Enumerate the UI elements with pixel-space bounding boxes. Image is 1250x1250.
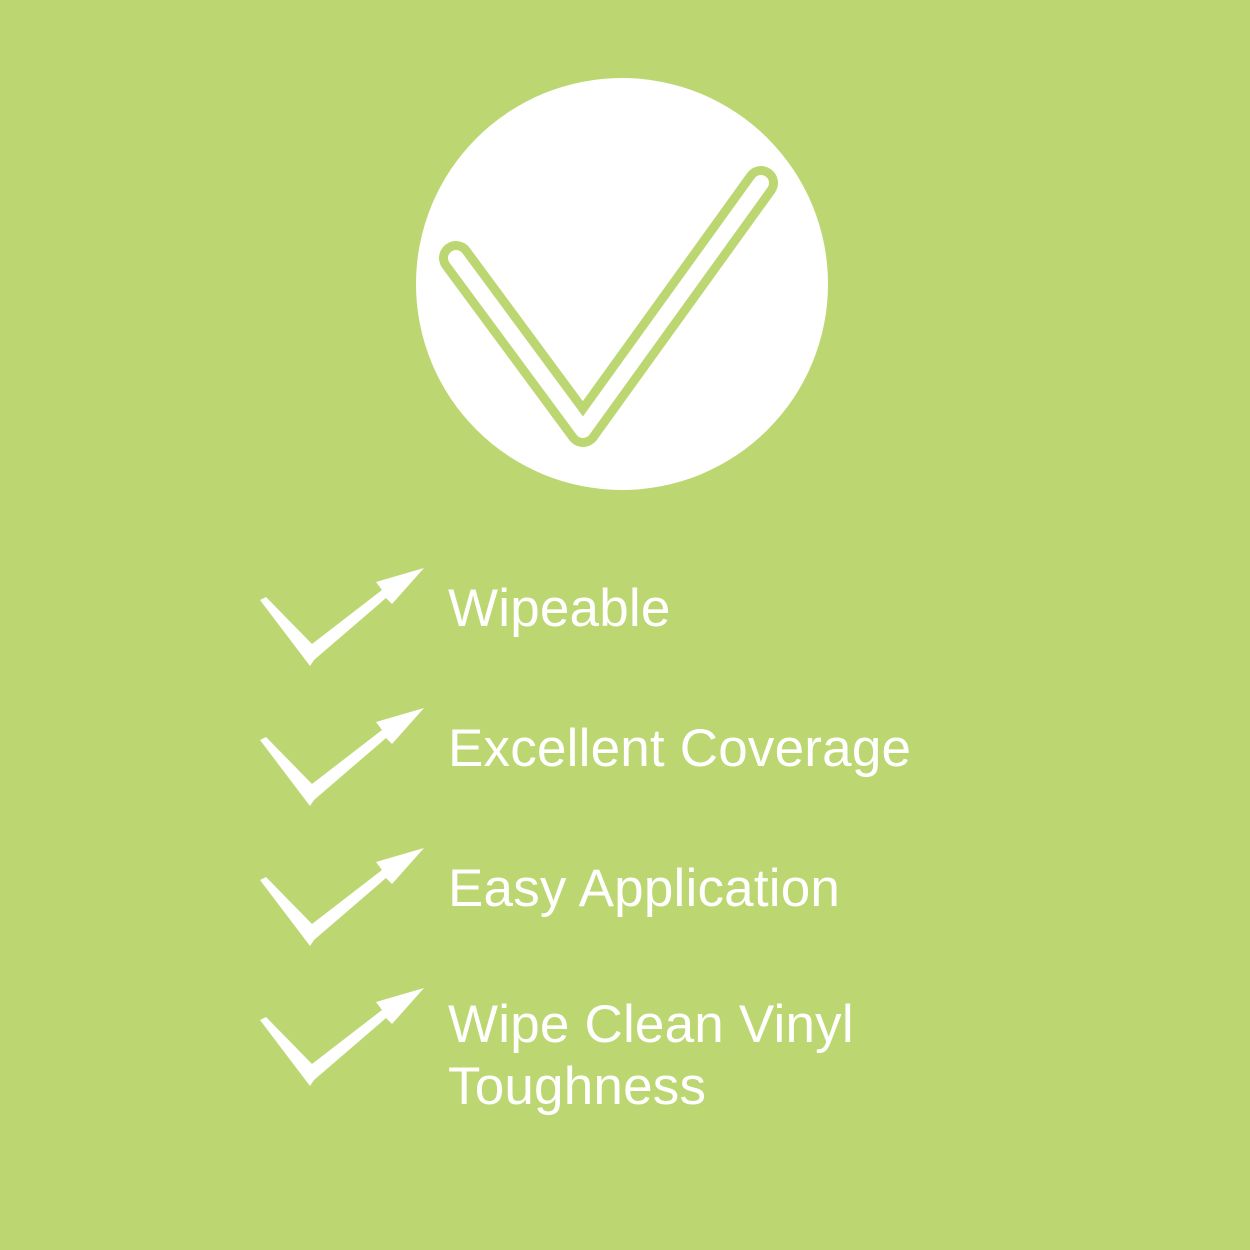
check-circle-icon <box>416 78 828 490</box>
feature-poster: Wipeable Excellent Coverage Easy Applica… <box>0 0 1250 1250</box>
check-arrow-shape <box>260 848 424 946</box>
check-arrow-shape <box>260 568 424 666</box>
check-arrow-icon <box>258 700 448 814</box>
check-arrow-icon <box>258 980 448 1094</box>
check-circle-badge <box>416 78 828 490</box>
feature-item: Easy Application <box>0 840 1250 980</box>
feature-label: Wipeable <box>448 560 1250 640</box>
feature-label: Wipe Clean Vinyl Toughness <box>448 980 1250 1118</box>
check-arrow-icon <box>258 560 448 674</box>
feature-item: Excellent Coverage <box>0 700 1250 840</box>
check-arrow-shape <box>260 988 424 1086</box>
feature-list: Wipeable Excellent Coverage Easy Applica… <box>0 560 1250 1120</box>
check-arrow-shape <box>260 708 424 806</box>
feature-label: Excellent Coverage <box>448 700 1250 780</box>
feature-label: Easy Application <box>448 840 1250 920</box>
feature-item: Wipeable <box>0 560 1250 700</box>
feature-item: Wipe Clean Vinyl Toughness <box>0 980 1250 1120</box>
check-arrow-icon <box>258 840 448 954</box>
